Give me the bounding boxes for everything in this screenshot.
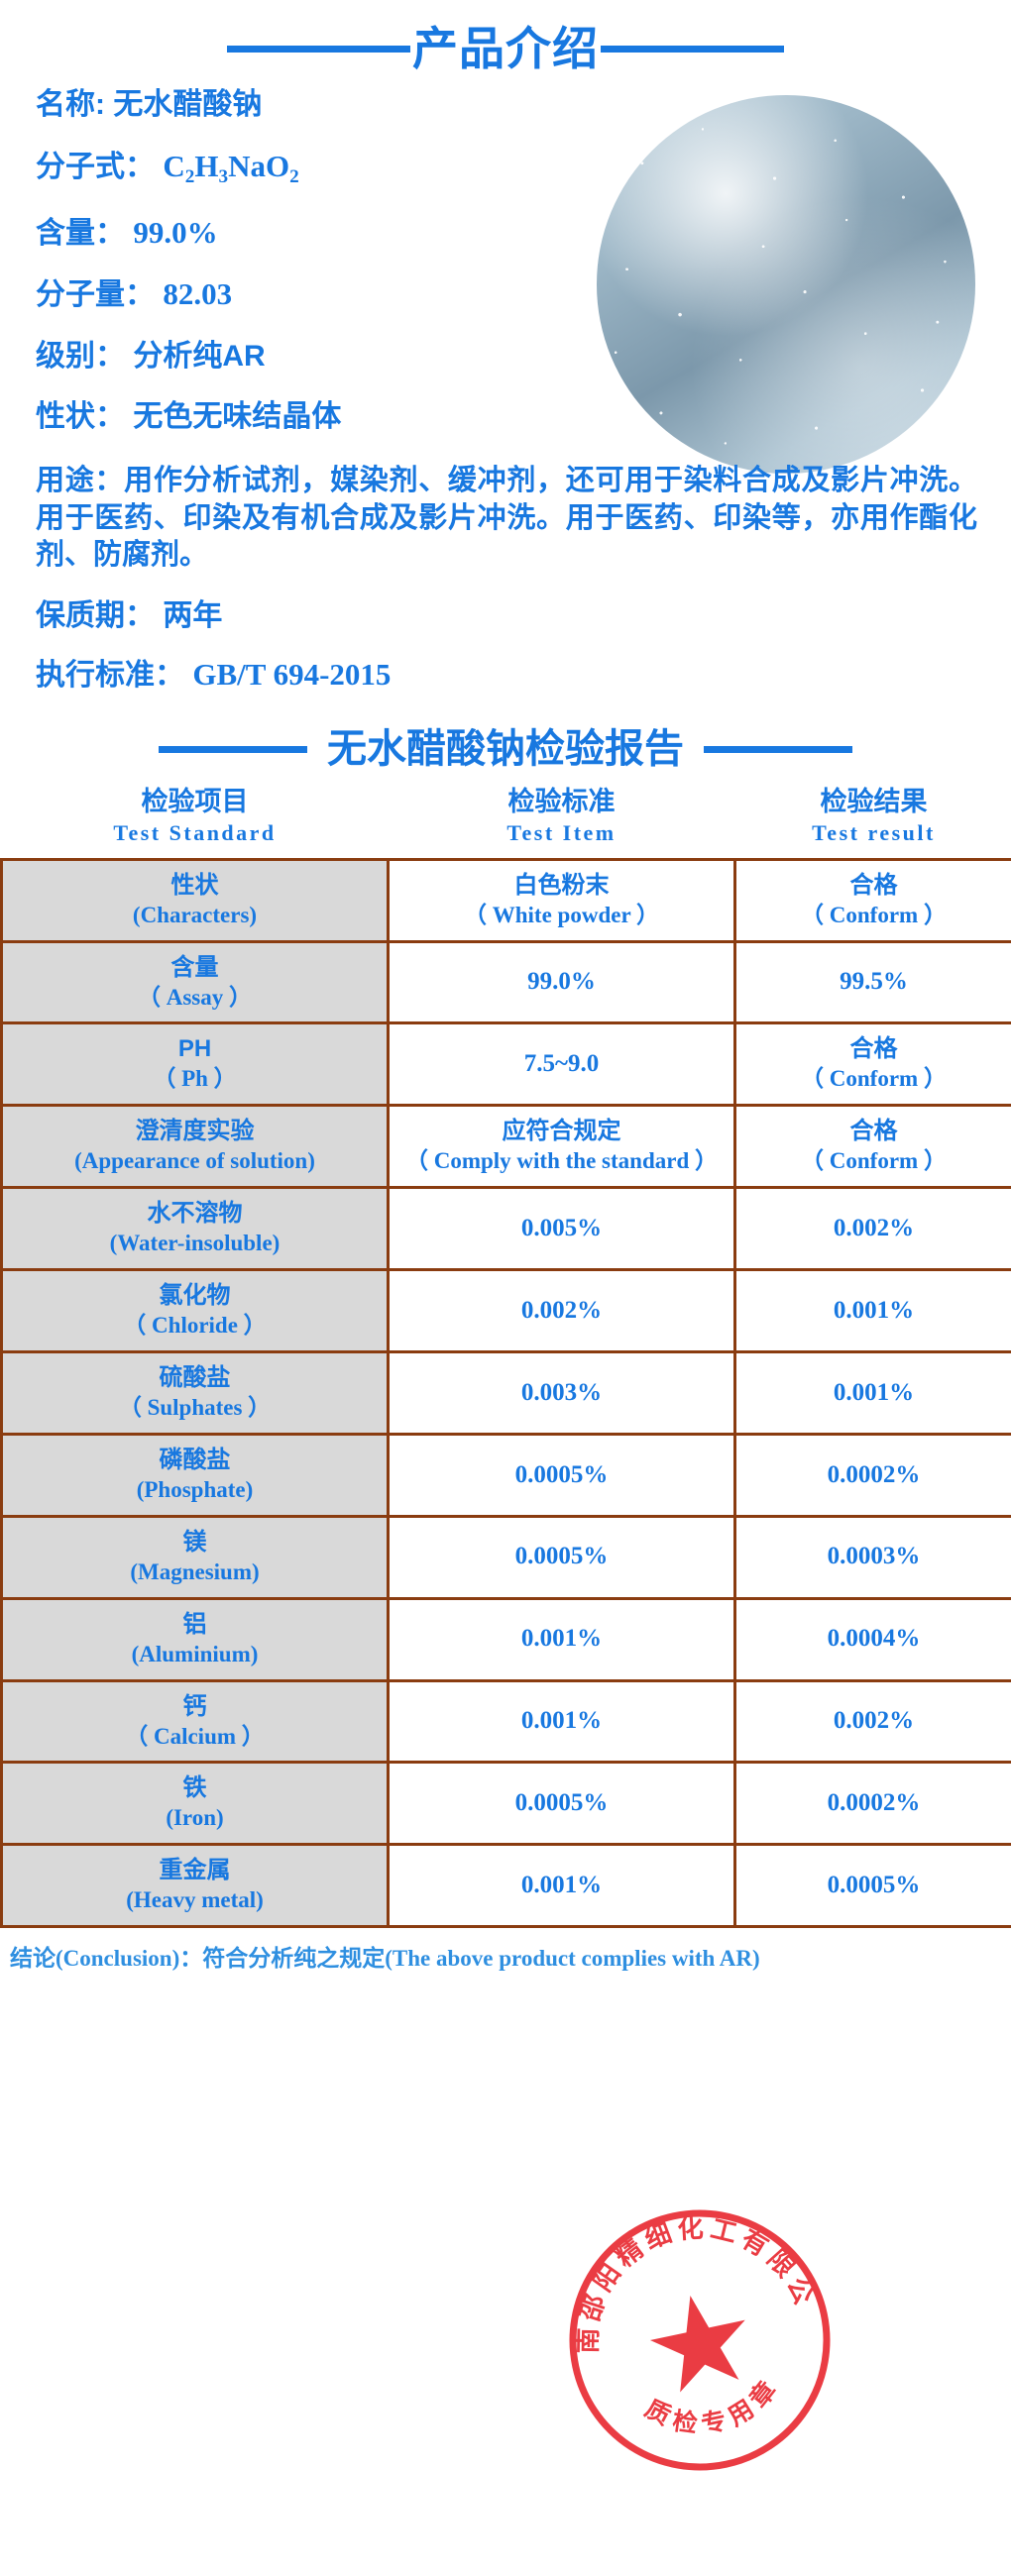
spec-shelf-life-label: 保质期： [36,599,155,632]
cell-item: 水不溶物 (Water-insoluble) [2,1188,389,1270]
cell-item-en: （ Ph ） [11,1064,379,1094]
table-row: 硫酸盐 （ Sulphates ） 0.003% 0.001% [2,1352,1011,1435]
cell-result: 0.001% [735,1270,1011,1352]
cell-result-value: 99.5% [744,966,1003,999]
cell-item-en: （ Chloride ） [11,1311,379,1341]
cell-item: PH （ Ph ） [2,1023,389,1106]
cell-result-en: （ Conform ） [744,901,1003,930]
spec-grade-label: 级别： [36,340,125,373]
cell-item-cn: 重金属 [11,1856,379,1885]
table-header-row: 检验项目 Test Standard 检验标准 Test Item 检验结果 T… [2,783,1011,859]
column-header-test-item: 检验项目 Test Standard [2,783,389,859]
cell-standard: 0.001% [389,1845,735,1927]
cell-result-value: 0.0004% [744,1623,1003,1656]
column-header-test-item-cn: 检验项目 [2,787,389,817]
cell-item-cn: 镁 [11,1528,379,1557]
cell-result-cn: 合格 [744,871,1003,901]
cell-item-cn: 氯化物 [11,1281,379,1311]
spec-name-label: 名称: [36,88,105,121]
cell-item-cn: 澄清度实验 [11,1117,379,1146]
cell-standard: 0.001% [389,1598,735,1680]
spec-shelf-life: 保质期： 两年 [36,600,1011,632]
page-title: 产品介绍 [410,26,601,71]
svg-text:质检专用章: 质检专用章 [635,2367,793,2451]
spec-name-value: 无水醋酸钠 [113,88,262,121]
cell-item-cn: 含量 [11,953,379,983]
cell-result: 合格 （ Conform ） [735,1106,1011,1188]
report-title-row: 无水醋酸钠检验报告 [0,719,1011,783]
intro-footer-specs: 保质期： 两年 执行标准： GB/T 694-2015 [0,600,1011,692]
spec-appearance-value: 无色无味结晶体 [133,400,341,433]
cell-standard-value: 99.0% [397,966,726,999]
product-photo-texture [597,95,975,474]
cell-item-en: (Heavy metal) [11,1885,379,1915]
spec-molweight: 分子量： 82.03 [36,278,634,311]
cell-standard-value: 0.0005% [397,1459,726,1492]
cell-standard-en: （ Comply with the standard ） [397,1146,726,1176]
cell-item-en: (Phosphate) [11,1475,379,1505]
spec-standard-label: 执行标准： [36,659,184,692]
cell-item: 磷酸盐 (Phosphate) [2,1434,389,1516]
cell-item-en: (Iron) [11,1803,379,1833]
spec-assay-value: 99.0% [133,215,217,250]
cell-item-en: (Appearance of solution) [11,1146,379,1176]
inspection-table: 检验项目 Test Standard 检验标准 Test Item 检验结果 T… [0,783,1011,1928]
product-intro-section: 产品介绍 名称: 无水醋酸钠 分子式： C2H3NaO2 含量： 99.0% [0,0,1011,692]
cell-result: 合格 （ Conform ） [735,1023,1011,1106]
cell-standard-value: 0.002% [397,1295,726,1328]
cell-result: 0.002% [735,1188,1011,1270]
cell-item-en: (Magnesium) [11,1557,379,1587]
table-row: 水不溶物 (Water-insoluble) 0.005% 0.002% [2,1188,1011,1270]
cell-standard: 0.003% [389,1352,735,1435]
cell-item: 硫酸盐 （ Sulphates ） [2,1352,389,1435]
cell-standard: 0.0005% [389,1763,735,1845]
column-header-test-result-cn: 检验结果 [735,787,1011,817]
spec-name: 名称: 无水醋酸钠 [36,89,634,121]
cell-item: 氯化物 （ Chloride ） [2,1270,389,1352]
cell-result-value: 0.0002% [744,1459,1003,1492]
cell-result-value: 0.0005% [744,1870,1003,1902]
table-row: 铝 (Aluminium) 0.001% 0.0004% [2,1598,1011,1680]
cell-item: 性状 (Characters) [2,859,389,941]
cell-standard-value: 0.0005% [397,1541,726,1573]
spec-standard: 执行标准： GB/T 694-2015 [36,659,1011,692]
cell-item-cn: 性状 [11,871,379,901]
spec-assay: 含量： 99.0% [36,217,634,250]
cell-standard-en: （ White powder ） [397,901,726,930]
spec-appearance: 性状： 无色无味结晶体 [36,401,634,433]
cell-item: 含量 （ Assay ） [2,941,389,1023]
column-header-test-standard: 检验标准 Test Item [389,783,735,859]
cell-result-cn: 合格 [744,1117,1003,1146]
table-row: 澄清度实验 (Appearance of solution) 应符合规定 （ C… [2,1106,1011,1188]
column-header-test-standard-en: Test Item [389,819,735,848]
cell-item-en: （ Assay ） [11,983,379,1013]
cell-standard-value: 7.5~9.0 [397,1048,726,1081]
cell-result-cn: 合格 [744,1034,1003,1064]
cell-standard: 0.002% [389,1270,735,1352]
cell-result-value: 0.0003% [744,1541,1003,1573]
table-row: 氯化物 （ Chloride ） 0.002% 0.001% [2,1270,1011,1352]
cell-item-cn: 磷酸盐 [11,1446,379,1475]
spec-standard-value: GB/T 694-2015 [192,657,391,692]
cell-item: 铝 (Aluminium) [2,1598,389,1680]
cell-item-en: (Aluminium) [11,1640,379,1669]
cell-item-en: （ Calcium ） [11,1722,379,1752]
spec-list: 名称: 无水醋酸钠 分子式： C2H3NaO2 含量： 99.0% 分子量： 8… [0,89,634,433]
cell-standard-cn: 应符合规定 [397,1117,726,1146]
table-row: PH （ Ph ） 7.5~9.0 合格 （ Conform ） [2,1023,1011,1106]
cell-item: 铁 (Iron) [2,1763,389,1845]
svg-text:湖南邵阳精细化工有限公司: 湖南邵阳精细化工有限公司 [551,2192,823,2368]
report-title: 无水醋酸钠检验报告 [327,729,684,769]
cell-item-cn: 铝 [11,1610,379,1640]
cell-standard-value: 0.003% [397,1377,726,1410]
cell-standard-cn: 白色粉末 [397,871,726,901]
spec-grade: 级别： 分析纯AR [36,341,634,373]
cell-result-value: 0.0002% [744,1787,1003,1820]
cell-item-cn: 钙 [11,1692,379,1722]
stamp-outer-text: 湖南邵阳精细化工有限公司 [551,2192,823,2368]
cell-result: 0.0002% [735,1763,1011,1845]
cell-item-cn: 硫酸盐 [11,1363,379,1393]
cell-item: 镁 (Magnesium) [2,1516,389,1598]
column-header-test-result: 检验结果 Test result [735,783,1011,859]
cell-result: 0.0004% [735,1598,1011,1680]
spec-formula-value: C2H3NaO2 [163,149,298,183]
cell-standard-value: 0.005% [397,1213,726,1245]
table-row: 含量 （ Assay ） 99.0% 99.5% [2,941,1011,1023]
cell-result: 0.0005% [735,1845,1011,1927]
report-rule-left [159,746,307,753]
product-page: 产品介绍 名称: 无水醋酸钠 分子式： C2H3NaO2 含量： 99.0% [0,0,1011,2576]
spec-molweight-label: 分子量： [36,278,155,311]
cell-standard: 0.005% [389,1188,735,1270]
cell-result: 0.001% [735,1352,1011,1435]
cell-standard: 白色粉末 （ White powder ） [389,859,735,941]
cell-item-cn: PH [11,1034,379,1064]
stamp-inner-text: 质检专用章 [635,2367,793,2451]
cell-item: 重金属 (Heavy metal) [2,1845,389,1927]
table-row: 镁 (Magnesium) 0.0005% 0.0003% [2,1516,1011,1598]
usage-block: 用途：用作分析试剂，媒染剂、缓冲剂，还可用于染料合成及影片冲洗。用于医药、印染及… [0,463,1011,575]
cell-standard-value: 0.001% [397,1623,726,1656]
spec-formula-label: 分子式： [36,151,155,183]
column-header-test-result-en: Test result [735,819,1011,848]
cell-result: 0.0003% [735,1516,1011,1598]
report-rule-right [704,746,852,753]
cell-result-en: （ Conform ） [744,1064,1003,1094]
cell-item: 钙 （ Calcium ） [2,1680,389,1763]
quality-inspection-stamp: 湖南邵阳精细化工有限公司 质检专用章 [551,2192,848,2489]
spec-shelf-life-value: 两年 [163,599,222,632]
cell-result-value: 0.002% [744,1705,1003,1738]
spec-molweight-value: 82.03 [163,276,232,311]
cell-item-cn: 铁 [11,1773,379,1803]
spec-appearance-label: 性状： [36,400,125,433]
cell-item: 澄清度实验 (Appearance of solution) [2,1106,389,1188]
cell-standard-value: 0.001% [397,1870,726,1902]
product-photo [597,95,975,474]
cell-item-cn: 水不溶物 [11,1199,379,1229]
cell-standard: 0.0005% [389,1434,735,1516]
cell-result: 合格 （ Conform ） [735,859,1011,941]
cell-standard: 应符合规定 （ Comply with the standard ） [389,1106,735,1188]
title-rule-left [227,46,410,53]
cell-standard: 0.0005% [389,1516,735,1598]
table-row: 磷酸盐 (Phosphate) 0.0005% 0.0002% [2,1434,1011,1516]
cell-standard: 7.5~9.0 [389,1023,735,1106]
cell-result: 0.0002% [735,1434,1011,1516]
usage-text: 用途：用作分析试剂，媒染剂、缓冲剂，还可用于染料合成及影片冲洗。用于医药、印染及… [36,463,977,575]
cell-result-value: 0.001% [744,1295,1003,1328]
cell-result-en: （ Conform ） [744,1146,1003,1176]
column-header-test-item-en: Test Standard [2,819,389,848]
cell-standard: 99.0% [389,941,735,1023]
title-rule-right [601,46,784,53]
table-row: 重金属 (Heavy metal) 0.001% 0.0005% [2,1845,1011,1927]
table-row: 性状 (Characters) 白色粉末 （ White powder ） 合格… [2,859,1011,941]
spec-grade-value: 分析纯AR [133,340,265,373]
cell-result-value: 0.002% [744,1213,1003,1245]
spec-assay-label: 含量： [36,217,125,250]
cell-item-en: (Water-insoluble) [11,1229,379,1258]
inspection-table-body: 性状 (Characters) 白色粉末 （ White powder ） 合格… [2,859,1011,1927]
cell-result-value: 0.001% [744,1377,1003,1410]
column-header-test-standard-cn: 检验标准 [389,787,735,817]
cell-result: 0.002% [735,1680,1011,1763]
cell-result: 99.5% [735,941,1011,1023]
cell-standard-value: 0.001% [397,1705,726,1738]
intro-title-row: 产品介绍 [0,0,1011,77]
table-row: 铁 (Iron) 0.0005% 0.0002% [2,1763,1011,1845]
inspection-report-section: 无水醋酸钠检验报告 检验项目 Test Standard 检验标准 Test I… [0,719,1011,1993]
cell-standard: 0.001% [389,1680,735,1763]
intro-body: 名称: 无水醋酸钠 分子式： C2H3NaO2 含量： 99.0% 分子量： 8… [0,77,1011,692]
cell-item-en: （ Sulphates ） [11,1393,379,1423]
cell-standard-value: 0.0005% [397,1787,726,1820]
cell-item-en: (Characters) [11,901,379,930]
spec-formula: 分子式： C2H3NaO2 [36,151,634,187]
conclusion-text: 结论(Conclusion)：符合分析纯之规定(The above produc… [0,1928,1011,1993]
table-row: 钙 （ Calcium ） 0.001% 0.002% [2,1680,1011,1763]
